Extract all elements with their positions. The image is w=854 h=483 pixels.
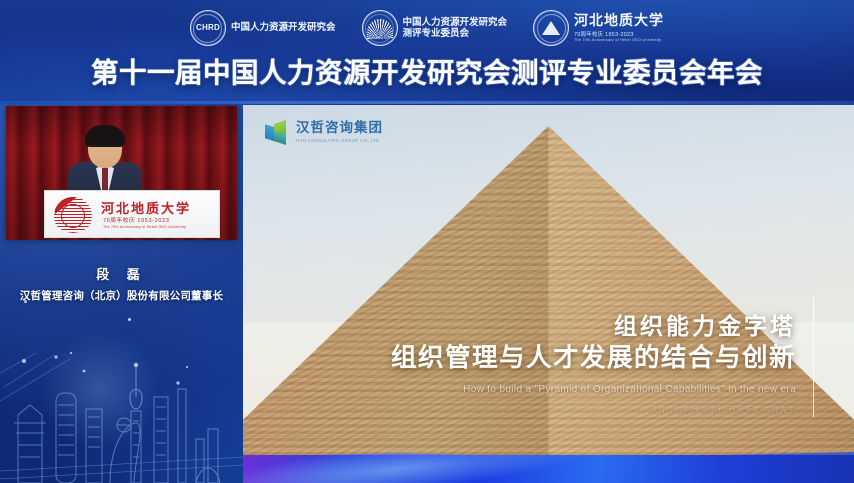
slide-logo-text: 汉哲咨询集团 HAN CONSULTING GROUP CO.,LTD xyxy=(296,122,383,143)
slide-logo-english: HAN CONSULTING GROUP CO.,LTD xyxy=(296,138,383,143)
logo-assessment-text: 中国人力资源开发研究会 测评专业委员会 xyxy=(403,17,508,39)
logo-chrd: CHRD 中国人力资源开发研究会 xyxy=(190,10,336,46)
speaker-info-block: 段 磊 汉哲管理咨询（北京）股份有限公司董事长 xyxy=(0,264,243,303)
conference-title: 第十一届中国人力资源开发研究会测评专业委员会年会 xyxy=(0,50,854,90)
city-skyline-decoration xyxy=(0,353,243,483)
logo-assessment-name-1: 中国人力资源开发研究会 xyxy=(403,17,508,28)
university-name: 河北地质大学 xyxy=(574,14,664,29)
logo-assessment-committee: 中国人力资源开发研究会 测评专业委员会 xyxy=(362,10,508,46)
chrd-seal-icon: CHRD xyxy=(190,10,226,46)
presentation-slide[interactable]: 汉哲咨询集团 HAN CONSULTING GROUP CO.,LTD 组织能力… xyxy=(243,105,854,455)
conference-header-banner: CHRD 中国人力资源开发研究会 中国人力资源开发研究会 测评专业委员会 xyxy=(0,0,854,104)
speaker-glasses xyxy=(90,145,121,152)
speaker-title: 汉哲管理咨询（北京）股份有限公司董事长 xyxy=(0,288,243,303)
speaker-panel: 河北地质大学 70周年校庆 1953-2023 The 70th Anniver… xyxy=(0,104,243,483)
speaker-video-feed[interactable]: 河北地质大学 70周年校庆 1953-2023 The 70th Anniver… xyxy=(6,106,237,240)
organizer-logo-row: CHRD 中国人力资源开发研究会 中国人力资源开发研究会 测评专业委员会 xyxy=(0,6,854,50)
presentation-stage: CHRD 中国人力资源开发研究会 中国人力资源开发研究会 测评专业委员会 xyxy=(0,0,854,483)
slide-vertical-rule xyxy=(813,297,814,417)
university-emblem-icon xyxy=(542,21,560,35)
anniversary-70-logo-icon xyxy=(52,195,94,233)
logo-assessment-name-2: 测评专业委员会 xyxy=(403,28,508,39)
assessment-committee-seal-icon xyxy=(362,10,398,46)
podium-anniversary: 70周年校庆 1953-2023 xyxy=(103,216,170,224)
fan-pattern-icon xyxy=(367,19,393,39)
podium-banner: 河北地质大学 70周年校庆 1953-2023 The 70th Anniver… xyxy=(44,190,220,238)
slide-title-block: 组织能力金字塔 组织管理与人才发展的结合与创新 How to build a "… xyxy=(356,312,796,415)
slide-title-line2: 组织管理与人才发展的结合与创新 xyxy=(356,342,796,375)
speaker-name: 段 磊 xyxy=(0,264,243,283)
speaker-tie xyxy=(102,168,108,192)
logo-chrd-name: 中国人力资源开发研究会 xyxy=(231,22,336,33)
speaker-hair xyxy=(85,125,125,147)
slide-title-line1: 组织能力金字塔 xyxy=(356,312,796,341)
slide-attribution: 汉哲咨询集团 董事长 首席专家 段磊先生 xyxy=(356,405,796,415)
chrd-seal-mark: CHRD xyxy=(196,24,220,32)
university-english-sub: The 70th Anniversary of Hebei GEO Univer… xyxy=(574,38,664,42)
han-consulting-cube-icon xyxy=(265,120,290,145)
logo-hebei-geo-university: 河北地质大学 70周年校庆 1953-2023 The 70th Anniver… xyxy=(533,10,664,46)
podium-english: The 70th Anniversary of Hebei GEO Univer… xyxy=(103,225,186,229)
slide-subtitle-english: How to build a "Pyramid of Organizationa… xyxy=(356,384,796,395)
slide-company-logo: 汉哲咨询集团 HAN CONSULTING GROUP CO.,LTD xyxy=(265,120,383,145)
podium-university-name: 河北地质大学 xyxy=(101,198,191,217)
university-seal-icon xyxy=(533,10,569,46)
slide-logo-chinese: 汉哲咨询集团 xyxy=(296,122,383,136)
logo-university-text: 河北地质大学 70周年校庆 1953-2023 The 70th Anniver… xyxy=(574,14,664,42)
logo-chrd-text: 中国人力资源开发研究会 xyxy=(231,22,336,33)
university-anniversary: 70周年校庆 1953-2023 xyxy=(574,30,664,38)
slide-bottom-band xyxy=(243,455,854,483)
